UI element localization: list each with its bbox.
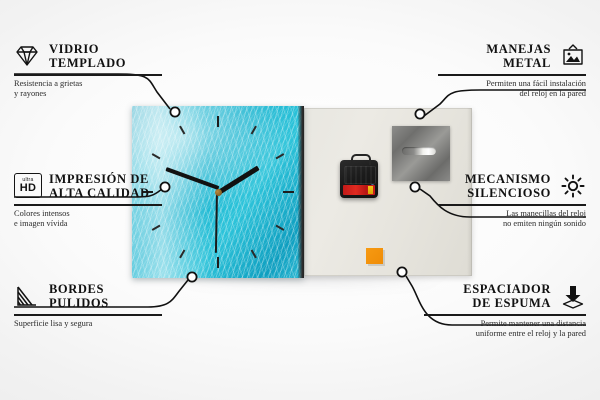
feature-header: ESPACIADOR DE ESPUMA	[424, 282, 586, 310]
gear-icon	[560, 173, 586, 199]
feature-desc: Superficie lisa y segura	[14, 319, 162, 330]
hanger-slot	[402, 147, 436, 155]
hands-center-cap	[215, 189, 222, 196]
feature-title: BORDES PULIDOS	[49, 282, 109, 310]
movement-hook	[351, 154, 371, 165]
quartz-movement-box	[340, 160, 378, 198]
feature-title: VIDRIO TEMPLADO	[49, 42, 126, 70]
feature-rule	[14, 314, 162, 316]
hour-mark	[217, 116, 219, 127]
ultra-hd-icon: ultra HD	[14, 173, 40, 199]
feature-desc: Resistencia a grietas y rayones	[14, 79, 162, 100]
battery	[343, 185, 375, 195]
feature-espaciador-de-espuma: ESPACIADOR DE ESPUMA Permite mantener un…	[424, 282, 586, 340]
feature-desc: Permite mantener una distancia uniforme …	[424, 319, 586, 340]
hour-mark	[251, 126, 257, 135]
feature-rule	[14, 204, 162, 206]
feature-rule	[424, 314, 586, 316]
polished-edges-icon	[14, 283, 40, 309]
infographic-canvas: VIDRIO TEMPLADO Resistencia a grietas y …	[0, 0, 600, 400]
hour-mark	[217, 257, 219, 268]
clock-right-edge	[298, 106, 304, 278]
wall-frame-icon	[560, 43, 586, 69]
feature-title: ESPACIADOR DE ESPUMA	[463, 282, 551, 310]
hd-badge: ultra HD	[14, 173, 42, 198]
feature-impresion-alta-calidad: ultra HD IMPRESIÓN DE ALTA CALIDAD Color…	[14, 172, 162, 230]
feature-desc: Las manecillas del reloj no emiten ningú…	[438, 209, 586, 230]
hour-mark	[276, 225, 285, 231]
hour-mark	[251, 250, 257, 259]
feature-header: BORDES PULIDOS	[14, 282, 162, 310]
diamond-icon	[14, 43, 40, 69]
movement-vents	[344, 166, 376, 184]
feature-title: MECANISMO SILENCIOSO	[465, 172, 551, 200]
feature-manejas-metal: MANEJAS METAL Permiten una fácil instala…	[438, 42, 586, 100]
down-arrow-spacer-icon	[560, 283, 586, 309]
feature-header: ultra HD IMPRESIÓN DE ALTA CALIDAD	[14, 172, 162, 200]
feature-rule	[14, 74, 162, 76]
feature-title: MANEJAS METAL	[486, 42, 551, 70]
hour-mark	[276, 153, 285, 159]
feature-desc: Permiten una fácil instalación del reloj…	[438, 79, 586, 100]
feature-rule	[438, 204, 586, 206]
feature-header: MECANISMO SILENCIOSO	[438, 172, 586, 200]
feature-header: MANEJAS METAL	[438, 42, 586, 70]
foam-spacer	[366, 248, 383, 264]
product-assembly	[132, 106, 477, 278]
feature-mecanismo-silencioso: MECANISMO SILENCIOSO Las manecillas del …	[438, 172, 586, 230]
feature-vidrio-templado: VIDRIO TEMPLADO Resistencia a grietas y …	[14, 42, 162, 100]
feature-desc: Colores intensos e imagen vívida	[14, 209, 162, 230]
feature-rule	[438, 74, 586, 76]
feature-bordes-pulidos: BORDES PULIDOS Superficie lisa y segura	[14, 282, 162, 329]
feature-title: IMPRESIÓN DE ALTA CALIDAD	[49, 172, 150, 200]
feature-header: VIDRIO TEMPLADO	[14, 42, 162, 70]
hour-mark	[283, 191, 294, 193]
